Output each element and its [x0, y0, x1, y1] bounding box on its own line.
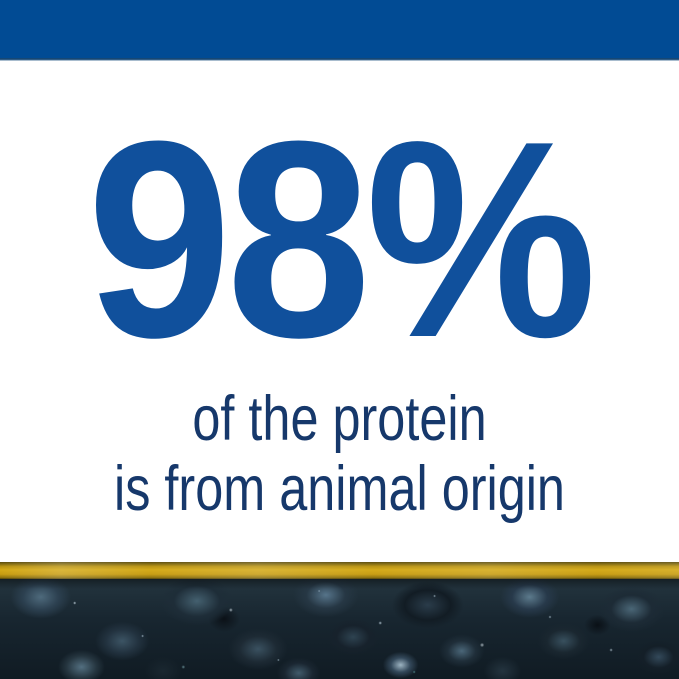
caption-line-1: of the protein: [68, 388, 611, 451]
kibble-texture-strip: [0, 579, 679, 679]
statistic-value: 98%: [87, 131, 591, 349]
protein-claim-banner: 98% of the protein is from animal origin: [0, 0, 679, 679]
claim-content-area: 98% of the protein is from animal origin: [0, 61, 679, 562]
texture-top-shadow: [0, 579, 679, 589]
texture-speckle-overlay: [0, 579, 679, 679]
top-blue-band: [0, 0, 679, 58]
caption-line-2: is from animal origin: [68, 455, 611, 523]
statistic-block: 98%: [0, 131, 679, 349]
gold-divider-band: [0, 562, 679, 579]
caption-block: of the protein is from animal origin: [0, 388, 679, 523]
